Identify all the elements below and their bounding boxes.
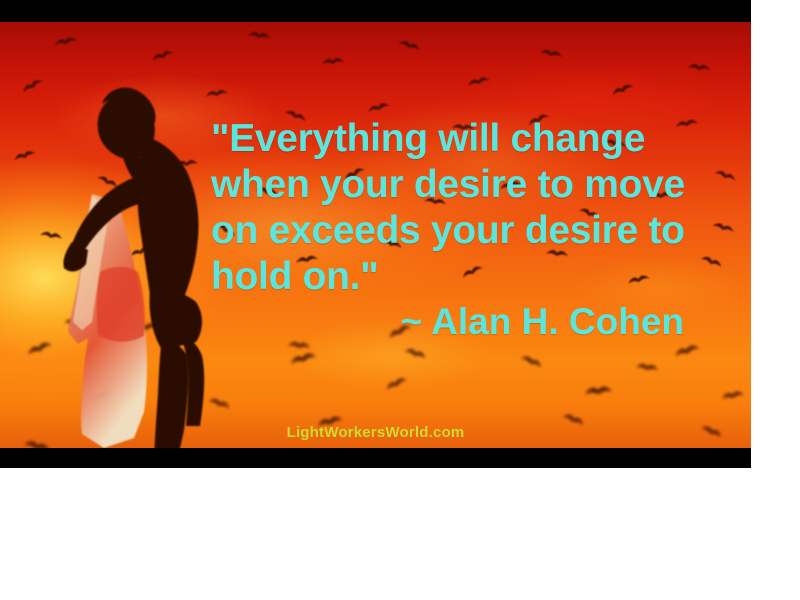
letterbox-bottom-bar [0,448,751,468]
person-silhouette [48,82,228,468]
quote-line-3: on exceeds your desire to [211,208,711,254]
site-watermark: LightWorkersWorld.com [0,424,751,441]
quote-image: "Everything will change when your desire… [0,0,751,468]
quote-line-4: hold on." [211,254,711,300]
quote-attribution: ~ Alan H. Cohen [211,300,684,344]
letterbox-top-bar [0,0,751,22]
quote-line-1: "Everything will change [211,116,711,162]
quote-line-2: when your desire to move [211,162,711,208]
quote-text-block: "Everything will change when your desire… [211,116,711,300]
